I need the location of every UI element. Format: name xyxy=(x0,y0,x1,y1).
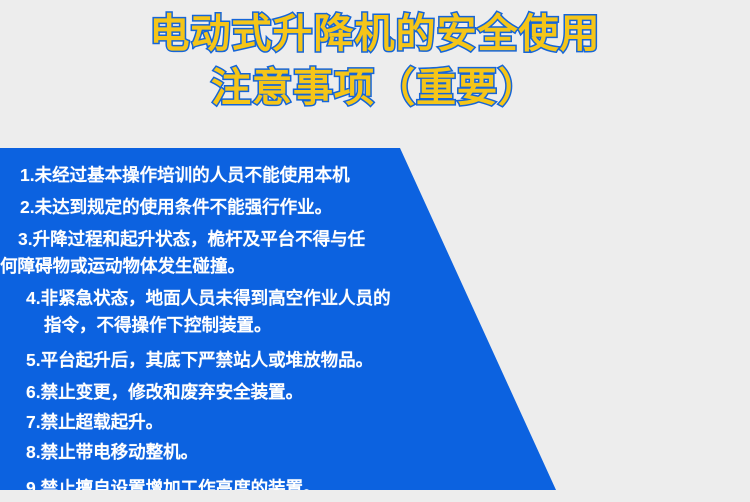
list-item: 7.禁止超载起升。 xyxy=(0,409,470,436)
safety-notice-poster: 电动式升降机的安全使用 注意事项（重要） 1.未经过基本操作培训的人员不能使用本… xyxy=(0,0,750,502)
poster-title-line-1: 电动式升降机的安全使用 xyxy=(150,8,601,60)
list-item: 3.升降过程和起升状态，桅杆及平台不得与任何障碍物或运动物体发生碰撞。 xyxy=(0,226,470,280)
list-item: 6.禁止变更，修改和废弃安全装置。 xyxy=(0,379,470,406)
list-item: 2.未达到规定的使用条件不能强行作业。 xyxy=(0,194,470,221)
safety-rule-list: 1.未经过基本操作培训的人员不能使用本机 2.未达到规定的使用条件不能强行作业。… xyxy=(0,148,470,502)
poster-title-line-2: 注意事项（重要） xyxy=(211,62,539,114)
rule-text: 未达到规定的使用条件不能强行作业。 xyxy=(35,197,333,217)
rule-number: 4. xyxy=(26,288,41,308)
rule-number: 3. xyxy=(18,229,33,249)
rule-text: 禁止超载起升。 xyxy=(41,412,164,432)
rule-number: 1. xyxy=(20,165,35,185)
rule-text: 未经过基本操作培训的人员不能使用本机 xyxy=(35,165,350,185)
rule-text: 非紧急状态，地面人员未得到高空作业人员的 xyxy=(41,288,391,308)
list-item: 4.非紧急状态，地面人员未得到高空作业人员的指令，不得操作下控制装置。 xyxy=(0,285,470,339)
rule-text: 禁止带电移动整机。 xyxy=(41,442,199,462)
rule-number: 7. xyxy=(26,412,41,432)
rule-number: 5. xyxy=(26,350,41,370)
rule-number: 8. xyxy=(26,442,41,462)
list-item: 1.未经过基本操作培训的人员不能使用本机 xyxy=(0,162,470,189)
rule-number: 2. xyxy=(20,197,35,217)
rule-text-wrap: 指令，不得操作下控制装置。 xyxy=(26,312,470,339)
bottom-background-strip xyxy=(0,490,750,502)
rule-text-wrap: 何障碍物或运动物体发生碰撞。 xyxy=(0,253,470,280)
rule-text: 禁止变更，修改和废弃安全装置。 xyxy=(41,382,304,402)
rule-text: 平台起升后，其底下严禁站人或堆放物品。 xyxy=(41,350,374,370)
poster-title-block: 电动式升降机的安全使用 注意事项（重要） xyxy=(0,0,750,140)
rule-text: 升降过程和起升状态，桅杆及平台不得与任 xyxy=(33,229,366,249)
rule-number: 6. xyxy=(26,382,41,402)
list-item: 8.禁止带电移动整机。 xyxy=(0,439,470,466)
list-item: 5.平台起升后，其底下严禁站人或堆放物品。 xyxy=(0,347,470,374)
